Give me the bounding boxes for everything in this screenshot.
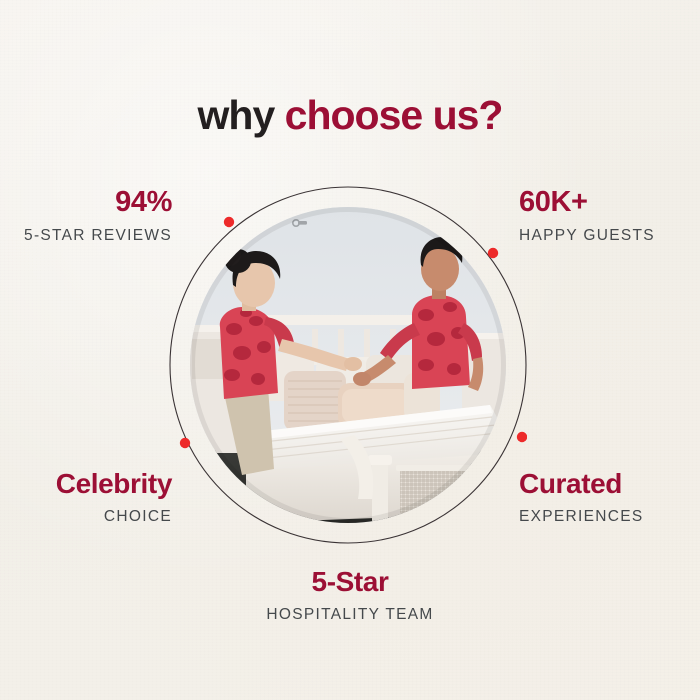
- stat-hospitality-team-label: HOSPITALITY TEAM: [175, 607, 525, 623]
- marker-top-left-icon: [224, 217, 234, 227]
- page-title-accent-part: choose us?: [285, 92, 503, 138]
- photo-textured-pillow: [284, 371, 346, 431]
- marker-bottom-left-icon: [180, 438, 190, 448]
- stat-celebrity-choice: Celebrity CHOICE: [0, 470, 172, 525]
- stat-celebrity-choice-label: CHOICE: [0, 509, 172, 525]
- stat-hospitality-team-value: 5-Star: [175, 568, 525, 596]
- stat-happy-guests-label: HAPPY GUESTS: [519, 228, 700, 244]
- stat-hospitality-team: 5-Star HOSPITALITY TEAM: [175, 568, 525, 623]
- stat-happy-guests: 60K+ HAPPY GUESTS: [519, 188, 700, 244]
- why-choose-us-poster: why choose us?: [0, 0, 700, 700]
- page-title: why choose us?: [0, 95, 700, 136]
- page-title-dark-part: why: [198, 92, 285, 138]
- stat-5-star-reviews-value: 94%: [0, 188, 172, 217]
- stat-celebrity-choice-value: Celebrity: [0, 470, 172, 498]
- stat-5-star-reviews: 94% 5-STAR REVIEWS: [0, 188, 172, 244]
- stat-curated-experiences-label: EXPERIENCES: [519, 509, 700, 525]
- stat-curated-experiences: Curated EXPERIENCES: [519, 470, 700, 525]
- stat-curated-experiences-value: Curated: [519, 470, 700, 498]
- stat-5-star-reviews-label: 5-STAR REVIEWS: [0, 228, 172, 244]
- decorative-ring-with-photo: [169, 186, 527, 544]
- stat-happy-guests-value: 60K+: [519, 188, 700, 217]
- marker-top-right-icon: [488, 248, 498, 258]
- hotel-staff-photo: [190, 207, 506, 523]
- hotel-staff-illustration: [190, 207, 506, 523]
- marker-bottom-right-icon: [517, 432, 527, 442]
